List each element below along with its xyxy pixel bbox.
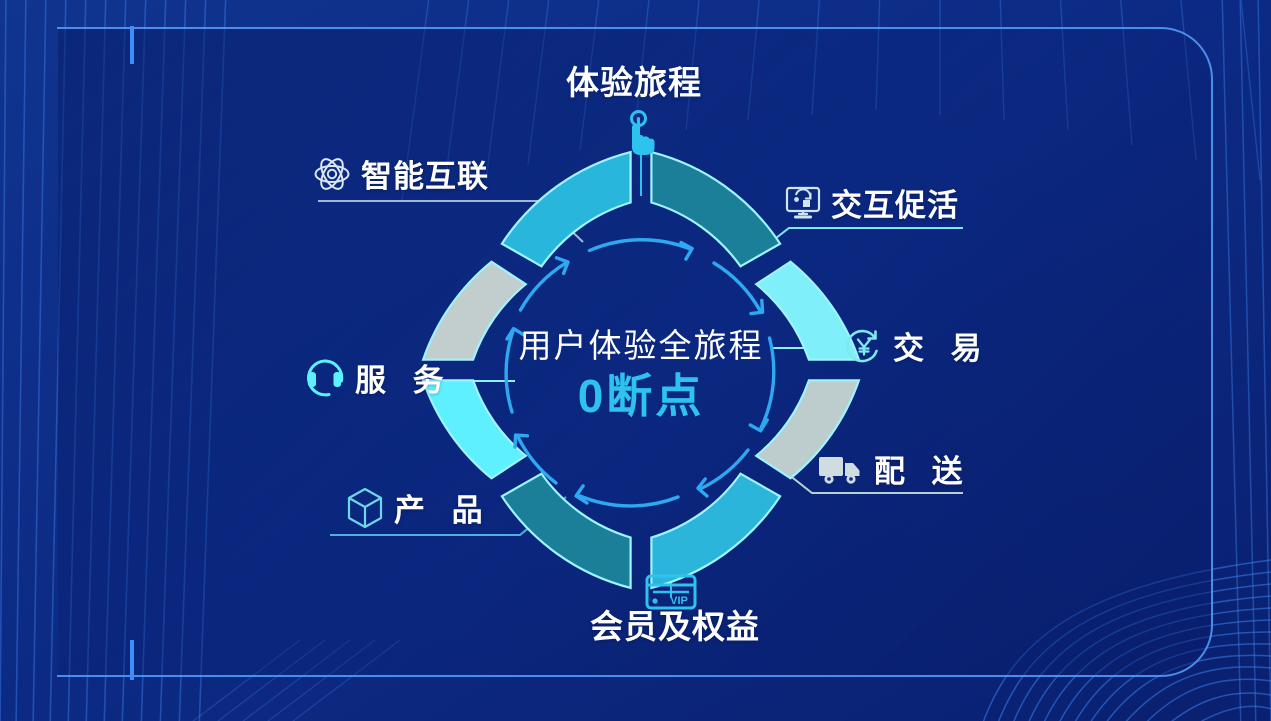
- node-interaction[interactable]: 交互促活: [785, 186, 959, 225]
- node-label-delivery: 配 送: [874, 456, 972, 487]
- node-label-transaction: 交 易: [893, 333, 991, 364]
- svg-text:VIP: VIP: [670, 595, 688, 607]
- node-membership[interactable]: 会员及权益: [590, 610, 760, 643]
- center-highlight: 0断点: [578, 370, 705, 422]
- truck-icon: [818, 452, 864, 491]
- slide-canvas: 用户体验全旅程 0断点 体验旅程 智能互联: [0, 0, 1271, 721]
- ring-segment-bottom-right: [651, 474, 780, 588]
- node-transaction[interactable]: 交 易: [845, 327, 991, 370]
- node-label-product: 产 品: [394, 495, 492, 526]
- hand-tap-icon: [620, 110, 664, 156]
- node-label-smart-connect: 智能互联: [361, 161, 489, 192]
- node-label-membership: 会员及权益: [590, 610, 760, 643]
- ring-segment-top-left: [502, 152, 631, 266]
- node-service[interactable]: 服 务: [305, 358, 453, 403]
- node-label-service: 服 务: [355, 365, 453, 396]
- center-title: 用户体验全旅程: [519, 327, 764, 364]
- cube-icon: [346, 487, 384, 534]
- headset-icon: [305, 358, 345, 403]
- ring-segment-top-right: [651, 152, 780, 266]
- node-delivery[interactable]: 配 送: [818, 452, 972, 491]
- monitor-icon: [785, 186, 821, 225]
- yuan-refresh-icon: [845, 327, 883, 370]
- atom-icon: [313, 155, 351, 198]
- node-label-experience-journey: 体验旅程: [566, 66, 702, 99]
- vip-card-icon: VIP: [645, 572, 697, 610]
- node-experience-journey[interactable]: 体验旅程: [566, 66, 702, 99]
- node-smart-connect[interactable]: 智能互联: [313, 155, 489, 198]
- node-product[interactable]: 产 品: [346, 487, 492, 534]
- node-label-interaction: 交互促活: [831, 190, 959, 221]
- ring-segment-bottom-left: [502, 474, 631, 588]
